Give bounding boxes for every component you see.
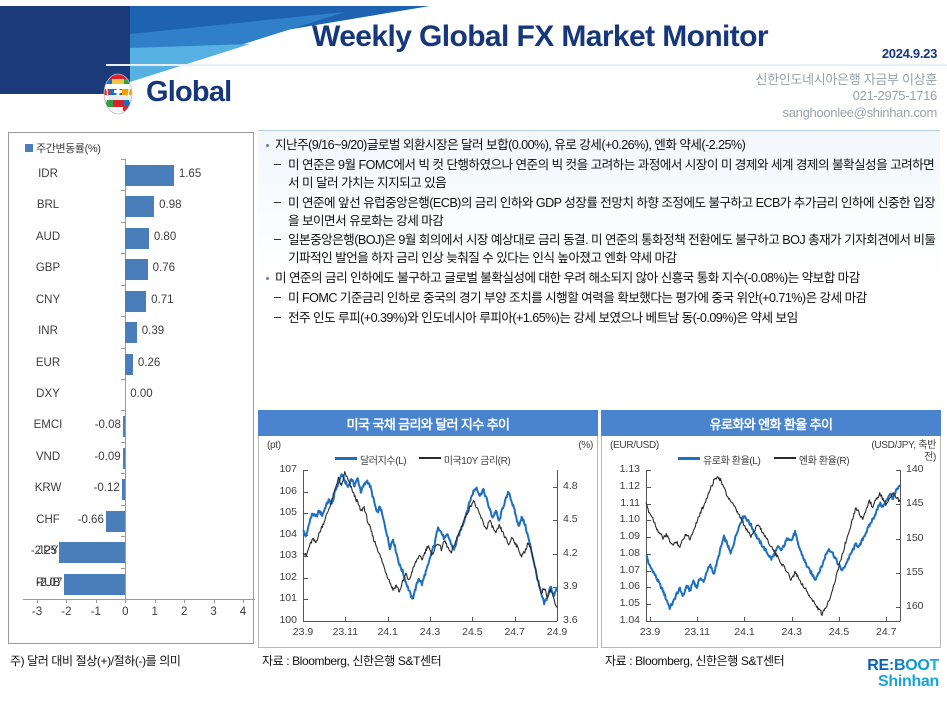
bar-chart-note: 주) 달러 대비 절상(+)/절하(-)를 의미 xyxy=(10,652,181,669)
source-right: 자료 : Bloomberg, 신한은행 S&T센터 xyxy=(605,652,784,669)
bar-category-label: CHF xyxy=(25,514,71,526)
bar-row: BRL0.98 xyxy=(9,190,253,221)
commentary-panel: 지난주(9/16~9/20)글로벌 외환시장은 달러 보합(0.00%), 유로… xyxy=(258,130,940,402)
axis-tick xyxy=(121,316,125,317)
bar-segment xyxy=(125,354,133,375)
axis-tick xyxy=(121,253,125,254)
bar-row: EMCI-0.08 xyxy=(9,410,253,441)
commentary-bullet: 전주 인도 루피(+0.39%)와 인도네시아 루피아(+1.65%)는 강세 … xyxy=(264,310,936,328)
contact-name: 신한인도네시아은행 자금부 이상훈 xyxy=(755,72,937,88)
chart-card-eur-jpy: 유로화와 엔화 환율 추이 (EUR/USD)(USD/JPY, 축반전)1.0… xyxy=(601,410,941,648)
bar-value-label: 0.26 xyxy=(138,357,160,369)
axis-tick xyxy=(121,536,125,537)
bar-row: GBP0.76 xyxy=(9,253,253,284)
x-axis-label: 2 xyxy=(174,606,194,618)
bar-row: IDR1.65 xyxy=(9,159,253,190)
x-axis-label: 0 xyxy=(115,606,135,618)
bar-segment xyxy=(125,291,146,312)
x-axis-label: 4 xyxy=(233,606,253,618)
report-date: 2024.9.23 xyxy=(882,46,937,61)
bar-category-label: DXY xyxy=(25,388,71,400)
bar-row: CNY0.71 xyxy=(9,285,253,316)
bar-value-label: 0.76 xyxy=(153,262,175,274)
bar-x-axis xyxy=(23,599,255,600)
axis-tick xyxy=(121,159,125,160)
x-axis-tick xyxy=(184,599,185,603)
bar-row: EUR0.26 xyxy=(9,348,253,379)
bar-value-label: 0.98 xyxy=(159,199,181,211)
chart-card-title-left: 미국 국채 금리와 달러 지수 추이 xyxy=(258,410,598,436)
bar-value-label: 0.39 xyxy=(142,325,164,337)
commentary-bullet: 미 연준에 앞선 유럽중앙은행(ECB)의 금리 인하와 GDP 성장률 전망치… xyxy=(264,195,936,231)
x-axis-label: 1 xyxy=(145,606,165,618)
bar-segment xyxy=(125,259,147,280)
commentary-bullet: 미 연준은 9월 FOMC에서 빅 컷 단행하였으나 연준의 빅 컷을 고려하는… xyxy=(264,157,936,193)
axis-tick xyxy=(121,222,125,223)
bar-category-label: EMCI xyxy=(25,419,71,431)
bar-segment xyxy=(125,165,174,186)
chart-series-svg xyxy=(259,436,597,647)
bar-category-label: BRL xyxy=(25,199,71,211)
x-axis-tick xyxy=(96,599,97,603)
x-axis-tick xyxy=(37,599,38,603)
bar-row: KRW-0.12 xyxy=(9,473,253,504)
contact-email: sanghoonlee@shinhan.com xyxy=(755,105,937,121)
x-axis-tick xyxy=(155,599,156,603)
commentary-bullet: 미 연준의 금리 인하에도 불구하고 글로벌 불확실성에 대한 우려 해소되지 … xyxy=(264,270,936,288)
legend-label: 주간변동률(%) xyxy=(36,143,101,155)
commentary-bullet: 지난주(9/16~9/20)글로벌 외환시장은 달러 보합(0.00%), 유로… xyxy=(264,137,936,155)
series-line-2 xyxy=(303,472,557,608)
x-axis-tick xyxy=(243,599,244,603)
bar-category-label: AUD xyxy=(25,231,71,243)
contact-phone: 021-2975-1716 xyxy=(755,88,937,104)
weekly-change-bar-chart: 주간변동률(%) IDR1.65BRL0.98AUD0.80GBP0.76CNY… xyxy=(8,132,254,644)
contact-block: 신한인도네시아은행 자금부 이상훈 021-2975-1716 sanghoon… xyxy=(755,72,937,121)
chart-series-svg xyxy=(602,436,940,647)
bar-value-label: 0.80 xyxy=(154,231,176,243)
page-title: Weekly Global FX Market Monitor xyxy=(270,20,810,54)
bar-value-label: 1.65 xyxy=(179,168,201,180)
commentary-bullet-list: 지난주(9/16~9/20)글로벌 외환시장은 달러 보합(0.00%), 유로… xyxy=(258,131,940,328)
chart-right-plot: (EUR/USD)(USD/JPY, 축반전)1.041.051.061.071… xyxy=(601,436,941,648)
axis-tick xyxy=(121,190,125,191)
bar-segment xyxy=(122,479,126,500)
bar-value-label: 0.00 xyxy=(130,388,152,400)
bar-value-label: -2.07 xyxy=(34,577,62,589)
bar-row: VND-0.09 xyxy=(9,442,253,473)
bar-category-label: IDR xyxy=(25,168,71,180)
axis-tick xyxy=(121,568,125,569)
section-label: Global xyxy=(146,76,231,109)
bar-value-label: -0.08 xyxy=(93,419,121,431)
bar-row: RUB-2.07 xyxy=(9,568,253,599)
x-axis-label: -1 xyxy=(86,606,106,618)
bar-category-label: VND xyxy=(25,451,71,463)
bar-segment xyxy=(125,322,136,343)
x-axis-tick xyxy=(125,599,126,603)
globe-flags-icon xyxy=(96,72,140,116)
page-header: Weekly Global FX Market Monitor 2024.9.2… xyxy=(0,0,947,124)
source-left: 자료 : Bloomberg, 신한은행 S&T센터 xyxy=(262,652,441,669)
bar-row: JPY-2.25 xyxy=(9,536,253,567)
bar-row: AUD0.80 xyxy=(9,222,253,253)
series-line-1 xyxy=(303,474,557,604)
bar-value-label: -2.25 xyxy=(29,545,57,557)
axis-tick xyxy=(121,410,125,411)
bar-value-label: -0.66 xyxy=(76,514,104,526)
axis-tick xyxy=(121,348,125,349)
x-axis-label: 3 xyxy=(204,606,224,618)
header-divider xyxy=(106,64,947,66)
x-axis-label: -2 xyxy=(56,606,76,618)
x-axis-tick xyxy=(214,599,215,603)
axis-tick xyxy=(121,285,125,286)
series-line-1 xyxy=(646,486,900,609)
bar-value-label: -0.09 xyxy=(93,451,121,463)
chart-left-plot: (pt)(%)1001011021031041051061073.63.94.2… xyxy=(258,436,598,648)
bar-segment xyxy=(123,448,126,469)
bar-category-label: CNY xyxy=(25,294,71,306)
x-axis-label: -3 xyxy=(27,606,47,618)
axis-tick xyxy=(121,379,125,380)
bar-segment xyxy=(123,416,125,437)
bar-segment xyxy=(106,511,125,532)
bar-row: DXY0.00 xyxy=(9,379,253,410)
axis-tick xyxy=(121,442,125,443)
bar-value-label: 0.71 xyxy=(151,294,173,306)
x-axis-tick xyxy=(66,599,67,603)
page-root: Weekly Global FX Market Monitor 2024.9.2… xyxy=(0,0,947,713)
axis-tick xyxy=(121,473,125,474)
bar-row: CHF-0.66 xyxy=(9,505,253,536)
bar-segment xyxy=(125,228,149,249)
shinhan-wordmark: Shinhan xyxy=(867,674,939,691)
bar-segment xyxy=(125,196,154,217)
bar-plot-area: IDR1.65BRL0.98AUD0.80GBP0.76CNY0.71INR0.… xyxy=(9,157,253,643)
bar-chart-legend: 주간변동률(%) xyxy=(25,140,101,156)
chart-card-ust-dxy: 미국 국채 금리와 달러 지수 추이 (pt)(%)10010110210310… xyxy=(258,410,598,648)
bar-value-label: -0.12 xyxy=(92,482,120,494)
axis-tick xyxy=(121,505,125,506)
bar-row: INR0.39 xyxy=(9,316,253,347)
bar-category-label: GBP xyxy=(25,262,71,274)
bar-segment xyxy=(64,574,125,595)
bar-category-label: KRW xyxy=(25,482,71,494)
chart-card-title-right: 유로화와 엔화 환율 추이 xyxy=(601,410,941,436)
commentary-bullet: 일본중앙은행(BOJ)은 9월 회의에서 시장 예상대로 금리 동결. 미 연준… xyxy=(264,232,936,268)
bar-category-label: INR xyxy=(25,325,71,337)
reboot-wordmark: RE:BOOT xyxy=(867,658,939,674)
reboot-shinhan-logo: RE:BOOT Shinhan xyxy=(867,658,939,691)
bar-category-label: EUR xyxy=(25,357,71,369)
legend-swatch-icon xyxy=(25,144,33,152)
commentary-bullet: 미 FOMC 기준금리 인하로 중국의 경기 부양 조치를 시행할 여력을 확보… xyxy=(264,290,936,308)
